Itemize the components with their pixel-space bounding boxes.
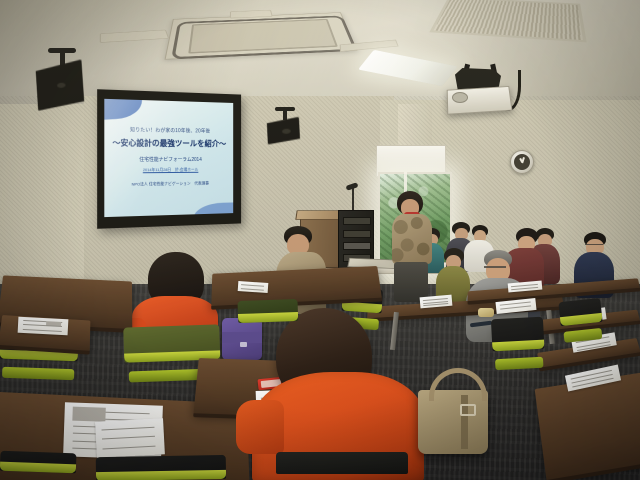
stacking-chair bbox=[96, 455, 227, 480]
projection-screen: 知りたい！わが家の10年後、20年後 〜安心設計の最強ツールを紹介〜 住宅性能ナ… bbox=[97, 89, 241, 229]
chair-trim bbox=[342, 302, 383, 314]
clock-minute-hand bbox=[521, 157, 524, 163]
rack-unit bbox=[343, 230, 371, 238]
stacking-chair bbox=[491, 317, 545, 364]
chair-back bbox=[237, 299, 298, 323]
chair-back bbox=[276, 452, 408, 474]
stacking-chair bbox=[0, 451, 76, 480]
speaker-cone bbox=[57, 83, 66, 89]
chair-back bbox=[558, 298, 602, 327]
projector-lens bbox=[452, 92, 468, 103]
rack-unit bbox=[343, 217, 371, 225]
bag-buckle bbox=[460, 404, 476, 416]
chair-back bbox=[123, 324, 220, 362]
printed-handout-sheet bbox=[238, 281, 269, 293]
printed-handout-sheet bbox=[95, 418, 165, 458]
arm bbox=[236, 400, 284, 454]
clock-face bbox=[514, 154, 530, 170]
eyeglasses bbox=[585, 244, 603, 249]
screen-glare bbox=[104, 99, 233, 217]
tape-dispenser bbox=[478, 308, 494, 317]
stacking-chair bbox=[558, 298, 603, 336]
stacking-chair bbox=[237, 299, 298, 331]
stacking-chair bbox=[276, 452, 408, 480]
eyeglasses bbox=[484, 266, 506, 273]
chair-trim bbox=[238, 312, 298, 323]
legs bbox=[394, 262, 428, 302]
seminar-room-photo: 知りたい！わが家の10年後、20年後 〜安心設計の最強ツールを紹介〜 住宅性能ナ… bbox=[0, 0, 640, 480]
torso-floral-top bbox=[392, 214, 432, 264]
projection-screen-surface: 知りたい！わが家の10年後、20年後 〜安心設計の最強ツールを紹介〜 住宅性能ナ… bbox=[104, 99, 233, 217]
chair-back bbox=[491, 317, 545, 351]
tan-handbag bbox=[418, 390, 488, 454]
floral-pattern bbox=[392, 214, 432, 264]
chair-trim bbox=[492, 339, 544, 351]
printed-handout-sheet bbox=[18, 317, 69, 336]
chair-trim bbox=[560, 313, 603, 326]
chair-trim bbox=[0, 462, 76, 474]
bag-clasp bbox=[240, 342, 247, 347]
chair-back bbox=[0, 451, 76, 474]
wall-clock bbox=[510, 150, 534, 174]
chair-trim bbox=[96, 470, 226, 480]
speaker-cone bbox=[282, 129, 291, 134]
chair-back bbox=[96, 455, 226, 480]
speaker-mount-pole bbox=[283, 110, 287, 120]
rack-unit bbox=[343, 242, 371, 250]
